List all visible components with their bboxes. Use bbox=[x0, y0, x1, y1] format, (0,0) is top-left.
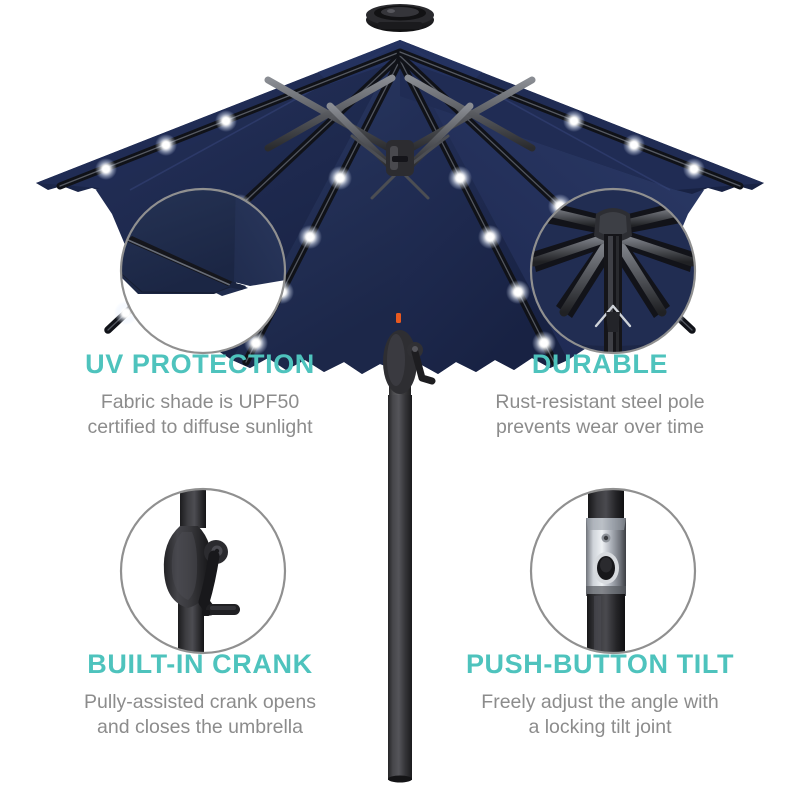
feature-body-line: prevents wear over time bbox=[420, 415, 780, 441]
feature-body-uv-protection: Fabric shade is UPF50 certified to diffu… bbox=[20, 390, 380, 441]
solar-panel-cap bbox=[366, 4, 434, 32]
callout-push-button-tilt bbox=[528, 486, 698, 656]
feature-block-durable: DURABLE Rust-resistant steel pole preven… bbox=[420, 350, 780, 441]
feature-body-line: Rust-resistant steel pole bbox=[420, 390, 780, 416]
umbrella-hub bbox=[386, 140, 414, 176]
feature-body-line: Pully-assisted crank opens bbox=[20, 690, 380, 716]
feature-body-push-button-tilt: Freely adjust the angle with a locking t… bbox=[420, 690, 780, 741]
feature-body-line: Freely adjust the angle with bbox=[420, 690, 780, 716]
callout-durable-image bbox=[528, 186, 698, 356]
callout-built-in-crank bbox=[118, 486, 288, 656]
feature-body-durable: Rust-resistant steel pole prevents wear … bbox=[420, 390, 780, 441]
feature-body-line: a locking tilt joint bbox=[420, 715, 780, 741]
callout-crank-image bbox=[118, 486, 288, 656]
callout-tilt-image bbox=[528, 486, 698, 656]
feature-title-durable: DURABLE bbox=[420, 350, 780, 380]
feature-title-push-button-tilt: PUSH-BUTTON TILT bbox=[420, 650, 780, 680]
callout-uv-image bbox=[118, 186, 288, 356]
feature-block-push-button-tilt: PUSH-BUTTON TILT Freely adjust the angle… bbox=[420, 650, 780, 741]
feature-title-built-in-crank: BUILT-IN CRANK bbox=[20, 650, 380, 680]
feature-body-line: certified to diffuse sunlight bbox=[20, 415, 380, 441]
feature-body-line: Fabric shade is UPF50 bbox=[20, 390, 380, 416]
feature-block-uv-protection: UV PROTECTION Fabric shade is UPF50 cert… bbox=[20, 350, 380, 441]
feature-body-built-in-crank: Pully-assisted crank opens and closes th… bbox=[20, 690, 380, 741]
product-infographic: UV PROTECTION Fabric shade is UPF50 cert… bbox=[0, 0, 800, 800]
feature-title-uv-protection: UV PROTECTION bbox=[20, 350, 380, 380]
callout-uv-protection bbox=[118, 186, 288, 356]
callout-durable bbox=[528, 186, 698, 356]
feature-body-line: and closes the umbrella bbox=[20, 715, 380, 741]
feature-block-built-in-crank: BUILT-IN CRANK Pully-assisted crank open… bbox=[20, 650, 380, 741]
